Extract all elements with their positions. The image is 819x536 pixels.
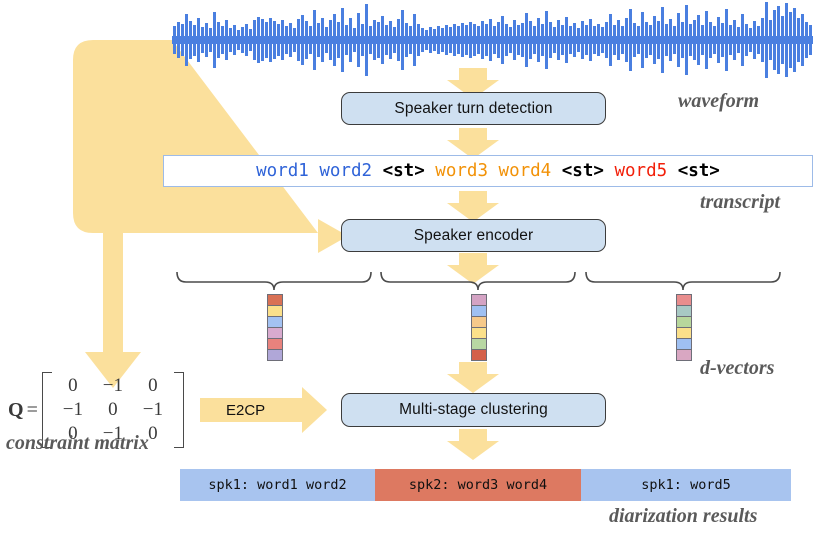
dvector-2-cell-3 <box>472 328 486 339</box>
matrix-cell-1-2: −1 <box>133 398 173 422</box>
brace-segment-1 <box>177 272 371 290</box>
dvector-1-cell-4 <box>268 339 282 350</box>
caption-dvectors: d-vectors <box>700 357 774 380</box>
dvector-2 <box>471 294 487 361</box>
matrix-bracket-right <box>174 372 184 448</box>
diagram-canvas: Speaker turn detection Speaker encoder M… <box>0 0 819 536</box>
caption-constraint-matrix: constraint matrix <box>6 432 149 455</box>
diarization-segment-1: spk2: word3 word4 <box>375 469 581 501</box>
dvector-3-cell-2 <box>677 317 691 328</box>
transcript-token-3 <box>372 161 383 181</box>
dvector-braces-layer <box>0 0 819 536</box>
diarization-results-row: spk1: word1 word2spk2: word3 word4spk1: … <box>180 469 791 501</box>
dvector-1-cell-2 <box>268 317 282 328</box>
matrix-equals-sign: = <box>27 399 38 422</box>
dvector-2-cell-0 <box>472 295 486 306</box>
matrix-cell-1-0: −1 <box>53 398 93 422</box>
box-speaker-encoder[interactable]: Speaker encoder <box>341 219 606 252</box>
dvector-2-cell-2 <box>472 317 486 328</box>
box-multi-stage-clustering-label: Multi-stage clustering <box>399 401 548 419</box>
dvector-1-cell-5 <box>268 350 282 360</box>
box-speaker-turn-detection[interactable]: Speaker turn detection <box>341 92 606 125</box>
matrix-symbol-q: Q <box>8 399 24 422</box>
dvector-3-cell-0 <box>677 295 691 306</box>
transcript-token-4: <st> <box>383 161 425 181</box>
transcript-token-11 <box>604 161 615 181</box>
box-multi-stage-clustering[interactable]: Multi-stage clustering <box>341 393 606 427</box>
transcript-token-7 <box>488 161 499 181</box>
caption-transcript: transcript <box>700 191 780 214</box>
dvector-1 <box>267 294 283 361</box>
e2cp-arrow-label: E2CP <box>226 402 265 419</box>
dvector-3-cell-3 <box>677 328 691 339</box>
transcript-token-6: word3 <box>435 161 488 181</box>
diarization-segment-2: spk1: word5 <box>581 469 791 501</box>
dvector-1-cell-1 <box>268 306 282 317</box>
transcript-token-5 <box>425 161 436 181</box>
box-speaker-turn-detection-label: Speaker turn detection <box>394 100 552 118</box>
dvector-3-cell-5 <box>677 350 691 360</box>
transcript-token-10: <st> <box>562 161 604 181</box>
transcript-token-13 <box>667 161 678 181</box>
box-speaker-encoder-label: Speaker encoder <box>414 227 534 245</box>
transcript-token-12: word5 <box>614 161 667 181</box>
matrix-cell-1-1: 0 <box>93 398 133 422</box>
transcript-token-2: word2 <box>319 161 372 181</box>
brace-segment-2 <box>381 272 575 290</box>
dvector-2-cell-4 <box>472 339 486 350</box>
matrix-cell-0-1: −1 <box>93 374 133 398</box>
transcript-token-9 <box>551 161 562 181</box>
caption-waveform: waveform <box>678 90 759 113</box>
dvector-3-cell-4 <box>677 339 691 350</box>
dvector-2-cell-1 <box>472 306 486 317</box>
matrix-cell-0-2: 0 <box>133 374 173 398</box>
dvector-3-cell-1 <box>677 306 691 317</box>
brace-segment-3 <box>586 272 780 290</box>
transcript-token-14: <st> <box>678 161 720 181</box>
matrix-row-1: −10−1 <box>53 398 173 422</box>
matrix-cell-0-0: 0 <box>53 374 93 398</box>
transcript-token-1 <box>309 161 320 181</box>
diarization-segment-0: spk1: word1 word2 <box>180 469 375 501</box>
matrix-row-0: 0−10 <box>53 374 173 398</box>
transcript-strip[interactable]: word1 word2 <st> word3 word4 <st> word5 … <box>163 155 813 187</box>
dvector-2-cell-5 <box>472 350 486 360</box>
transcript-token-0: word1 <box>256 161 309 181</box>
dvector-1-cell-3 <box>268 328 282 339</box>
transcript-token-8: word4 <box>499 161 552 181</box>
dvector-3 <box>676 294 692 361</box>
caption-diarization-results: diarization results <box>609 505 757 528</box>
dvector-1-cell-0 <box>268 295 282 306</box>
